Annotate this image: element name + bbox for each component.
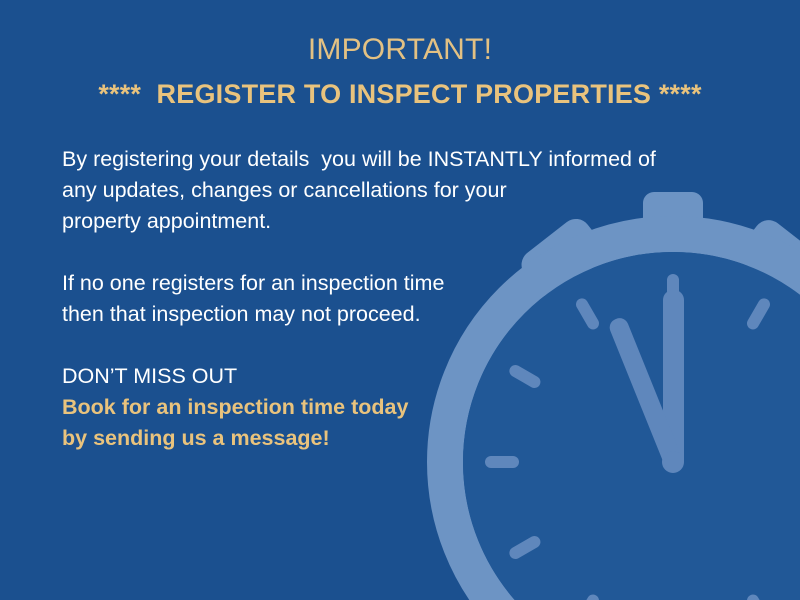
cta-book-inspection: Book for an inspection time today <box>62 392 722 423</box>
paragraph-registering-details: By registering your details you will be … <box>62 144 722 237</box>
cta-dont-miss-out: DON’T MISS OUT <box>62 361 722 392</box>
page-title: IMPORTANT! <box>0 30 800 70</box>
cta-send-message: by sending us a message! <box>62 423 722 454</box>
promotional-slide: IMPORTANT! **** REGISTER TO INSPECT PROP… <box>0 0 800 600</box>
body-copy: By registering your details you will be … <box>62 144 722 454</box>
heading-block: IMPORTANT! **** REGISTER TO INSPECT PROP… <box>0 30 800 114</box>
heading-subtitle: **** REGISTER TO INSPECT PROPERTIES **** <box>0 74 800 114</box>
paragraph-no-registration-warning: If no one registers for an inspection ti… <box>62 268 722 330</box>
call-to-action-block: DON’T MISS OUT Book for an inspection ti… <box>62 361 722 454</box>
